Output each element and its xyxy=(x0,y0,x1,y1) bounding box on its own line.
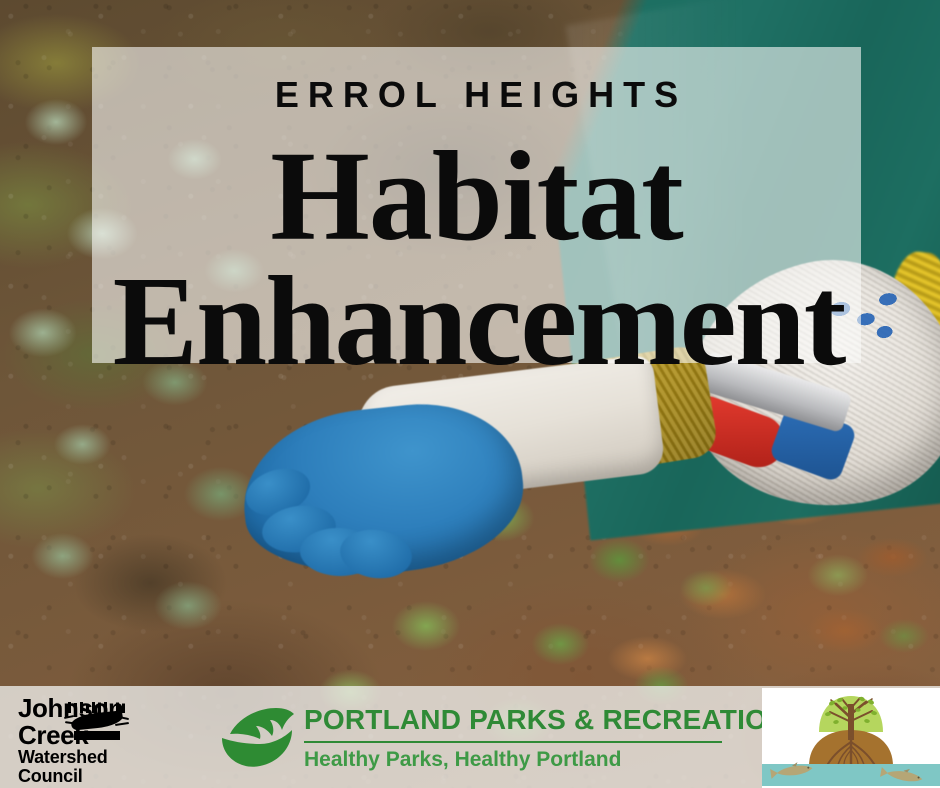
ppr-divider-rule xyxy=(304,741,722,743)
logo-portland-parks-recreation[interactable]: PORTLAND PARKS & RECREATIONSM Healthy Pa… xyxy=(212,698,752,778)
logo-tree-and-fish[interactable] xyxy=(762,688,940,788)
ppr-text-block: PORTLAND PARKS & RECREATIONSM Healthy Pa… xyxy=(304,706,803,770)
title-line-2: Enhancement xyxy=(113,260,845,383)
ppr-title: PORTLAND PARKS & RECREATIONSM xyxy=(304,706,803,734)
title-line-1: Habitat xyxy=(270,135,683,258)
grass-icon xyxy=(66,692,128,713)
ppr-tagline: Healthy Parks, Healthy Portland xyxy=(304,749,803,770)
green-leaves-right xyxy=(640,540,940,700)
tree-roots-over-water-icon xyxy=(762,688,940,788)
creek-bank-bar-icon xyxy=(74,731,120,740)
ppr-title-text: PORTLAND PARKS & RECREATION xyxy=(304,704,787,735)
leaf-in-hand-icon xyxy=(212,704,298,772)
title-overlay-panel: ERROL HEIGHTS Habitat Enhancement xyxy=(92,47,861,363)
kicker-text: ERROL HEIGHTS xyxy=(266,77,687,113)
logo-johnson-creek-watershed-council[interactable]: Johnson Creek Watershed Council xyxy=(18,690,176,786)
poster-canvas: ERROL HEIGHTS Habitat Enhancement Johnso… xyxy=(0,0,940,788)
creek-fish-grass-mark-icon xyxy=(62,692,132,693)
jcwc-name-line-2: Watershed Council xyxy=(18,748,176,786)
